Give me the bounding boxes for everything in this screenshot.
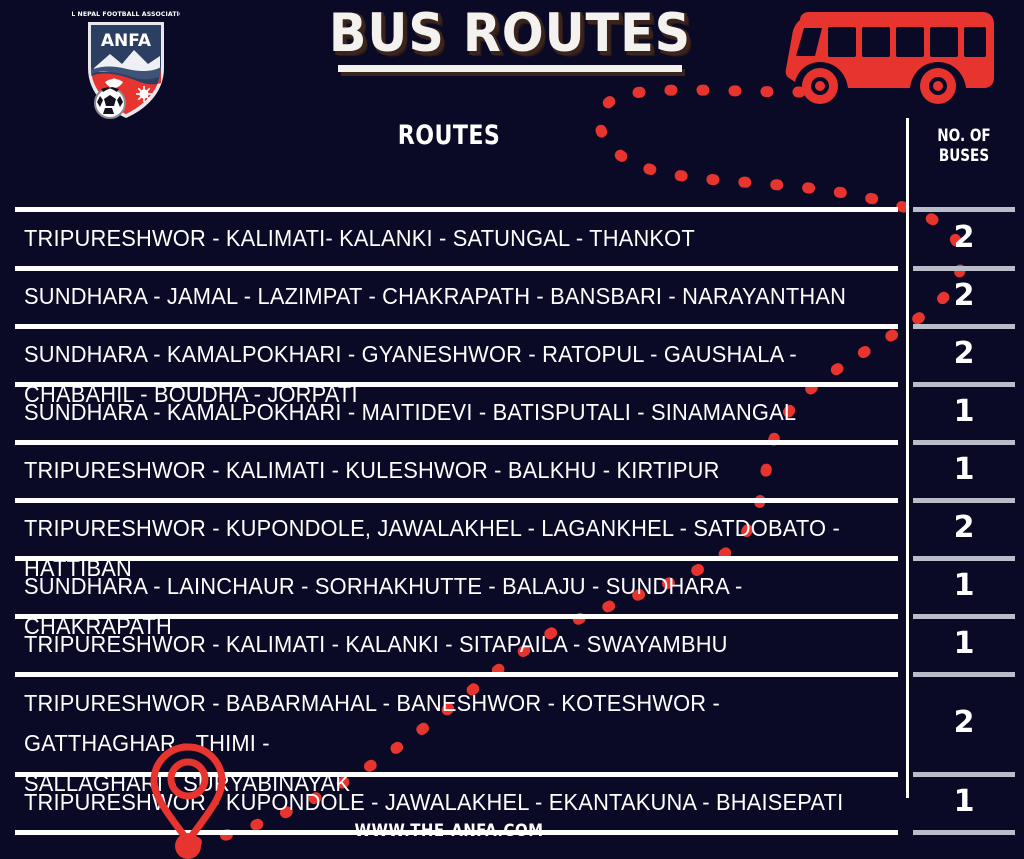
row-separator bbox=[15, 614, 898, 619]
row-separator bbox=[913, 324, 1015, 329]
footer-website: WWW.THE-ANFA.COM bbox=[54, 821, 844, 841]
row-separator bbox=[913, 498, 1015, 503]
bus-count-cell: 2 bbox=[913, 278, 1015, 313]
row-separator bbox=[913, 382, 1015, 387]
row-separator bbox=[15, 672, 898, 677]
row-separator bbox=[15, 556, 898, 561]
row-separator bbox=[15, 440, 898, 445]
row-separator bbox=[913, 556, 1015, 561]
row-separator bbox=[15, 266, 898, 271]
route-cell: SUNDHARA - JAMAL - LAZIMPAT - CHAKRAPATH… bbox=[24, 276, 858, 316]
bus-routes-poster: ALL NEPAL FOOTBALL ASSOCIATION ANFA bbox=[0, 0, 1024, 859]
location-pin-icon bbox=[140, 741, 236, 859]
anfa-logo-icon: ALL NEPAL FOOTBALL ASSOCIATION ANFA bbox=[72, 6, 180, 124]
bus-count-cell: 2 bbox=[913, 705, 1015, 740]
column-header-buses: NO. OF BUSES bbox=[923, 126, 1005, 166]
logo-org-line: ALL NEPAL FOOTBALL ASSOCIATION bbox=[72, 11, 180, 18]
row-separator bbox=[913, 672, 1015, 677]
row-separator bbox=[913, 207, 1015, 212]
page-title: BUS ROUTES bbox=[315, 6, 706, 61]
row-separator bbox=[913, 830, 1015, 835]
row-separator bbox=[913, 614, 1015, 619]
poster-title-block: BUS ROUTES bbox=[300, 6, 720, 72]
bus-count-cell: 2 bbox=[913, 220, 1015, 255]
bus-count-cell: 1 bbox=[913, 784, 1015, 819]
row-separator bbox=[15, 498, 898, 503]
row-separator bbox=[913, 440, 1015, 445]
bus-count-cell: 2 bbox=[913, 510, 1015, 545]
route-cell: TRIPURESHWOR - KALIMATI - KULESHWOR - BA… bbox=[24, 450, 858, 490]
row-separator bbox=[15, 324, 898, 329]
route-cell: TRIPURESHWOR - KALIMATI - KALANKI - SITA… bbox=[24, 624, 858, 664]
bus-count-cell: 1 bbox=[913, 568, 1015, 603]
bus-count-cell: 1 bbox=[913, 394, 1015, 429]
bus-icon bbox=[778, 6, 1008, 114]
row-separator bbox=[15, 207, 898, 212]
row-separator bbox=[913, 772, 1015, 777]
bus-count-cell: 1 bbox=[913, 626, 1015, 661]
column-divider bbox=[906, 118, 909, 798]
column-header-routes: ROUTES bbox=[81, 120, 817, 151]
bus-count-cell: 2 bbox=[913, 336, 1015, 371]
route-cell: TRIPURESHWOR - KALIMATI- KALANKI - SATUN… bbox=[24, 218, 858, 258]
row-separator bbox=[15, 382, 898, 387]
route-cell: SUNDHARA - KAMALPOKHARI - MAITIDEVI - BA… bbox=[24, 392, 858, 432]
logo-abbreviation: ANFA bbox=[101, 31, 152, 51]
row-separator bbox=[913, 266, 1015, 271]
title-underline bbox=[338, 65, 682, 72]
bus-count-cell: 1 bbox=[913, 452, 1015, 487]
poster-header: ALL NEPAL FOOTBALL ASSOCIATION ANFA bbox=[0, 0, 1024, 118]
